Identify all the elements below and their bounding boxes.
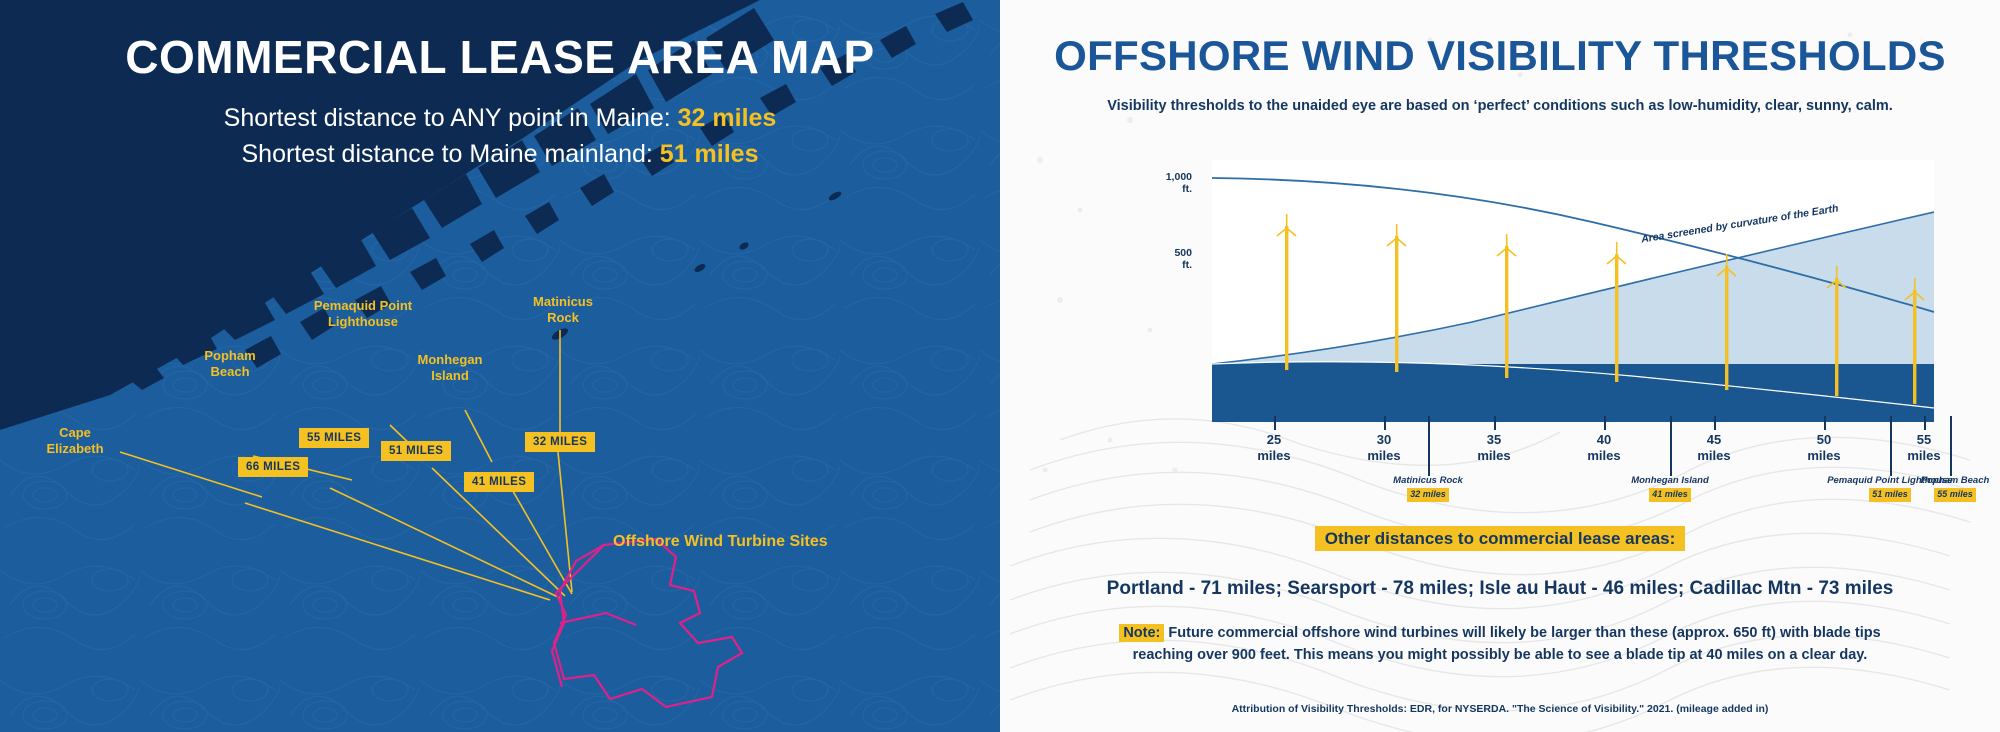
other-distances-list: Portland - 71 miles; Searsport - 78 mile… [1000,578,2000,600]
offshore-wind-turbine-sites-label: Offshore Wind Turbine Sites [613,533,828,551]
map-label-popham-beach: Popham Beach [185,348,275,380]
mile-box-66: 66 MILES [238,457,308,477]
x-tick-40-miles: 40 miles [1569,432,1639,463]
visibility-chart: Area screened by curvature of the Earth [1212,160,1934,422]
y-tick-1000ft: 1,000 ft. [1122,172,1192,195]
map-label-pemaquid-point-lighthouse: Pemaquid Point Lighthouse [298,298,428,330]
left-panel-commercial-lease-map: COMMERCIAL LEASE AREA MAP Shortest dista… [0,0,1000,732]
infographic-root: COMMERCIAL LEASE AREA MAP Shortest dista… [0,0,2000,732]
mile-box-51: 51 MILES [381,441,451,461]
other-distances-header: Other distances to commercial lease area… [1315,526,1686,551]
x-tick-25-miles: 25 miles [1239,432,1309,463]
site-tick-monhegan-island [1670,416,1672,476]
x-tick-30-miles: 30 miles [1349,432,1419,463]
turbine-50-miles [1824,264,1850,396]
turbine-25-miles [1274,212,1300,370]
right-panel-visibility-thresholds: OFFSHORE WIND VISIBILITY THRESHOLDS Visi… [1000,0,2000,732]
right-subtitle: Visibility thresholds to the unaided eye… [1000,98,2000,114]
site-tick-popham-beach [1950,416,1952,476]
x-tickmark-35 [1494,416,1496,430]
x-tickmark-45 [1714,416,1716,430]
x-tickmark-50 [1824,416,1826,430]
attribution-text: Attribution of Visibility Thresholds: ED… [1000,703,2000,715]
x-tick-55-miles: 55 miles [1889,432,1959,463]
site-label-matinicus-rock: Matinicus Rock 32 miles [1338,474,1518,503]
right-page-title: OFFSHORE WIND VISIBILITY THRESHOLDS [1000,32,2000,80]
map-label-cape-elizabeth: Cape Elizabeth [30,425,120,457]
turbine-30-miles [1384,222,1410,372]
site-tick-pemaquid-point-lighthouse [1890,416,1892,476]
page-title: COMMERCIAL LEASE AREA MAP [0,30,1000,84]
subtitle-mainland-text: Shortest distance to Maine mainland: [242,140,660,168]
note-block: Note: Future commercial offshore wind tu… [1055,622,1945,667]
mile-box-32: 32 MILES [525,432,595,452]
subtitle-any-point-text: Shortest distance to ANY point in Maine: [224,104,678,132]
y-tick-500ft: 500 ft. [1122,248,1192,271]
x-tickmark-40 [1604,416,1606,430]
x-tick-50-miles: 50 miles [1789,432,1859,463]
map-label-monhegan-island: Monhegan Island [400,352,500,384]
mile-box-55: 55 MILES [299,428,369,448]
site-tick-matinicus-rock [1428,416,1430,476]
note-line-2: reaching over 900 feet. This means you m… [1133,647,1868,663]
site-label-monhegan-island: Monhegan Island 41 miles [1580,474,1760,503]
map-label-matinicus-rock: Matinicus Rock [518,294,608,326]
turbine-45-miles [1714,252,1740,390]
subtitle-mainland: Shortest distance to Maine mainland: 51 … [0,140,1000,169]
subtitle-mainland-value: 51 miles [660,140,759,168]
turbine-55-miles [1902,276,1928,404]
turbine-35-miles [1494,232,1520,378]
subtitle-any-point-value: 32 miles [678,104,777,132]
note-line-1: Future commercial offshore wind turbines… [1164,625,1880,641]
mile-box-41: 41 MILES [464,472,534,492]
note-tag: Note: [1119,624,1164,642]
x-tickmark-30 [1384,416,1386,430]
site-label-popham-beach: Popham Beach 55 miles [1880,474,2000,503]
x-tick-35-miles: 35 miles [1459,432,1529,463]
other-distances-header-wrap: Other distances to commercial lease area… [1000,529,2000,549]
x-tickmark-55 [1924,416,1926,430]
turbine-40-miles [1604,240,1630,382]
subtitle-any-point: Shortest distance to ANY point in Maine:… [0,104,1000,133]
x-tick-45-miles: 45 miles [1679,432,1749,463]
x-tickmark-25 [1274,416,1276,430]
